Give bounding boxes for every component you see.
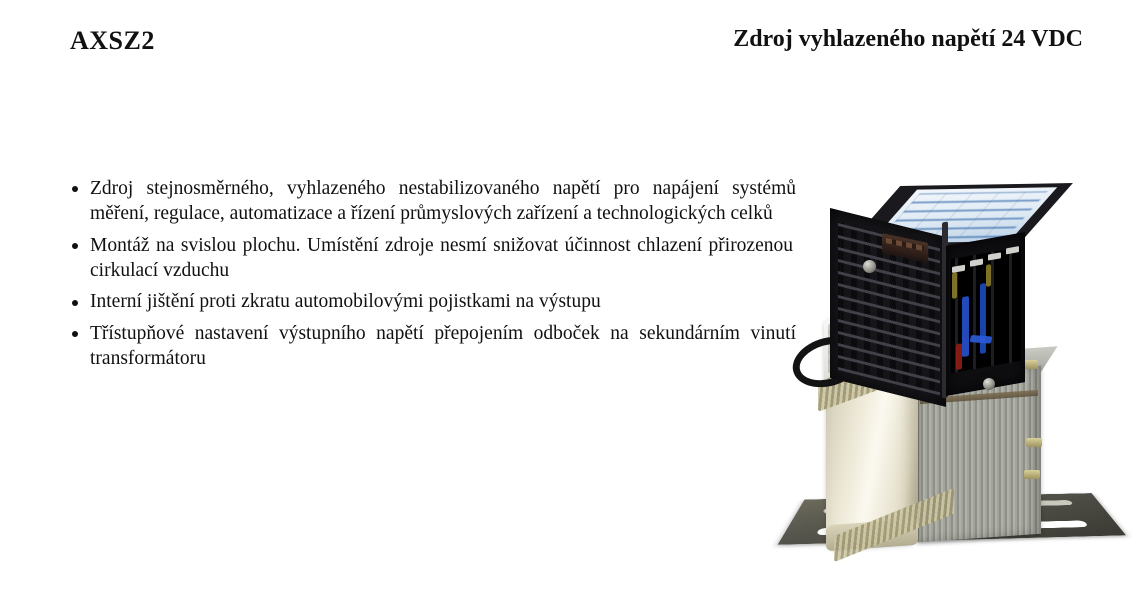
feature-list: Zdroj stejnosměrného, vyhlazeného nestab… (70, 176, 796, 371)
page-title: Zdroj vyhlazeného napětí 24 VDC (733, 26, 1083, 53)
enclosure (830, 186, 1025, 378)
bullet-icon (72, 331, 78, 337)
list-item: Montáž na svislou plochu. Umístění zdroj… (70, 233, 793, 284)
bullet-icon (72, 300, 78, 306)
bullet-icon (72, 243, 78, 249)
internal-wire (980, 283, 986, 354)
enclosure-front-face (946, 232, 1025, 396)
bullet-icon (72, 186, 78, 192)
internal-wire (986, 264, 991, 287)
internal-wire (952, 272, 957, 299)
terminal-lug (1024, 470, 1040, 479)
internal-wire (969, 335, 992, 344)
datasheet-page: AXSZ2 Zdroj vyhlazeného napětí 24 VDC Zd… (0, 0, 1143, 600)
product-code: AXSZ2 (70, 26, 155, 56)
list-item: Interní jištění proti zkratu automobilov… (70, 289, 796, 314)
feature-text: Třístupňové nastavení výstupního napětí … (90, 321, 796, 372)
feature-text: Interní jištění proti zkratu automobilov… (90, 289, 796, 314)
page-header: AXSZ2 Zdroj vyhlazeného napětí 24 VDC (0, 26, 1143, 70)
screw-icon (863, 260, 876, 273)
terminal-lug (1026, 438, 1042, 447)
list-item: Zdroj stejnosměrného, vyhlazeného nestab… (70, 176, 796, 227)
product-photo (790, 170, 1140, 590)
screw-icon (983, 378, 995, 390)
list-item: Třístupňové nastavení výstupního napětí … (70, 321, 796, 372)
feature-text: Montáž na svislou plochu. Umístění zdroj… (90, 233, 793, 284)
feature-text: Zdroj stejnosměrného, vyhlazeného nestab… (90, 176, 796, 227)
internal-wire (962, 296, 969, 357)
internal-wire (956, 343, 962, 370)
